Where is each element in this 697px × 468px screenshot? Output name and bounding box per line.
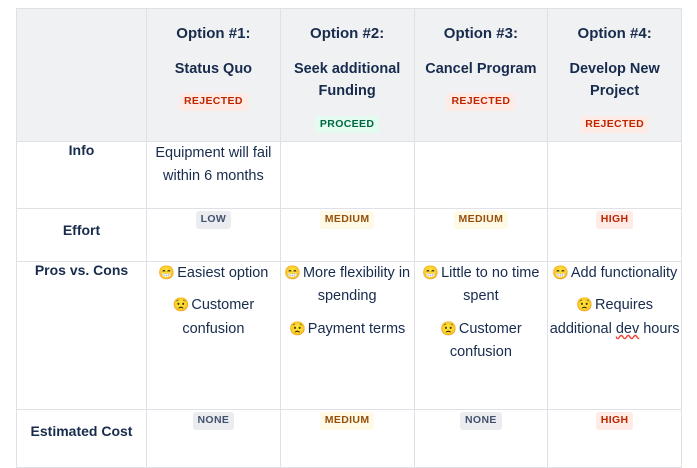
status-badge: REJECTED xyxy=(580,116,649,134)
worried-face-icon: 😟 xyxy=(576,297,593,312)
row-label-estimated-cost: Estimated Cost xyxy=(17,410,147,468)
list-item: 😟Requires additional dev hours xyxy=(548,294,681,341)
table-row-effort: Effort LOW MEDIUM MEDIUM HIGH xyxy=(17,209,682,262)
cell-effort-option-1: LOW xyxy=(147,209,281,262)
grinning-face-icon: 😁 xyxy=(158,265,175,280)
list-item: 😁More flexibility in spending xyxy=(281,262,414,309)
option-2-title: Option #2: xyxy=(291,23,404,45)
cell-cost-option-1: NONE xyxy=(147,410,281,468)
table-row-info: Info Equipment will fail within 6 months xyxy=(17,142,682,209)
option-2-status-row: PROCEED xyxy=(291,114,404,134)
effort-badge: HIGH xyxy=(596,211,634,229)
cell-pros-cons-option-1: 😁Easiest option 😟Customer confusion xyxy=(147,262,281,410)
effort-badge: MEDIUM xyxy=(320,211,375,229)
cell-cost-option-3: NONE xyxy=(414,410,548,468)
column-header-option-1: Option #1: Status Quo REJECTED xyxy=(147,9,281,142)
cell-pros-cons-option-3: 😁Little to no time spent 😟Customer confu… xyxy=(414,262,548,410)
status-badge: PROCEED xyxy=(315,116,379,134)
worried-face-icon: 😟 xyxy=(440,321,457,336)
column-header-option-4: Option #4: Develop New Project REJECTED xyxy=(548,9,682,142)
effort-badge: MEDIUM xyxy=(454,211,509,229)
list-item: 😁Easiest option xyxy=(147,262,280,285)
status-badge: REJECTED xyxy=(179,93,248,111)
list-item: 😟Customer confusion xyxy=(415,318,548,365)
cell-info-option-4 xyxy=(548,142,682,209)
row-label-effort: Effort xyxy=(17,209,147,262)
option-2-description: Seek additional Funding xyxy=(291,58,404,103)
column-header-option-3: Option #3: Cancel Program REJECTED xyxy=(414,9,548,142)
cost-badge: MEDIUM xyxy=(320,412,375,430)
cell-info-option-1: Equipment will fail within 6 months xyxy=(147,142,281,209)
grinning-face-icon: 😁 xyxy=(422,265,439,280)
pros-cons-list: 😁Easiest option 😟Customer confusion xyxy=(147,262,280,341)
grinning-face-icon: 😁 xyxy=(552,265,569,280)
option-1-description: Status Quo xyxy=(157,58,270,80)
option-4-status-row: REJECTED xyxy=(558,114,671,134)
list-item: 😁Little to no time spent xyxy=(415,262,548,309)
header-corner-cell xyxy=(17,9,147,142)
cell-info-option-3 xyxy=(414,142,548,209)
option-1-header-content: Option #1: Status Quo REJECTED xyxy=(147,9,280,111)
table-header-row: Option #1: Status Quo REJECTED Option #2… xyxy=(17,9,682,142)
option-1-title: Option #1: xyxy=(157,23,270,45)
row-label-info: Info xyxy=(17,142,147,209)
option-4-header-content: Option #4: Develop New Project REJECTED xyxy=(548,9,681,133)
option-3-status-row: REJECTED xyxy=(425,91,538,111)
list-item: 😟Customer confusion xyxy=(147,294,280,341)
option-3-description: Cancel Program xyxy=(425,58,538,80)
list-item-text: Customer confusion xyxy=(182,297,254,336)
table-row-estimated-cost: Estimated Cost NONE MEDIUM NONE HIGH xyxy=(17,410,682,468)
column-header-option-2: Option #2: Seek additional Funding PROCE… xyxy=(280,9,414,142)
list-item-text: Customer confusion xyxy=(450,321,522,360)
decision-matrix-wrapper: Option #1: Status Quo REJECTED Option #2… xyxy=(0,0,697,468)
list-item: 😟Payment terms xyxy=(281,318,414,341)
status-badge: REJECTED xyxy=(446,93,515,111)
pros-cons-list: 😁More flexibility in spending 😟Payment t… xyxy=(281,262,414,341)
cell-effort-option-3: MEDIUM xyxy=(414,209,548,262)
list-item: 😁Add functionality xyxy=(548,262,681,285)
grinning-face-icon: 😁 xyxy=(284,265,301,280)
cell-cost-option-2: MEDIUM xyxy=(280,410,414,468)
misspelled-word: dev xyxy=(616,321,639,337)
decision-matrix-table: Option #1: Status Quo REJECTED Option #2… xyxy=(16,8,682,468)
option-1-status-row: REJECTED xyxy=(157,91,270,111)
list-item-text: Payment terms xyxy=(308,321,406,337)
cost-badge: HIGH xyxy=(596,412,634,430)
cell-effort-option-2: MEDIUM xyxy=(280,209,414,262)
worried-face-icon: 😟 xyxy=(289,321,306,336)
option-3-title: Option #3: xyxy=(425,23,538,45)
list-item-text-after: hours xyxy=(639,321,679,337)
list-item-text: Add functionality xyxy=(571,265,677,281)
pros-cons-list: 😁Add functionality 😟Requires additional … xyxy=(548,262,681,341)
list-item-text: Little to no time spent xyxy=(441,265,539,304)
cell-cost-option-4: HIGH xyxy=(548,410,682,468)
cell-pros-cons-option-2: 😁More flexibility in spending 😟Payment t… xyxy=(280,262,414,410)
table-row-pros-cons: Pros vs. Cons 😁Easiest option 😟Customer … xyxy=(17,262,682,410)
cell-info-option-2 xyxy=(280,142,414,209)
option-4-description: Develop New Project xyxy=(558,58,671,103)
option-3-header-content: Option #3: Cancel Program REJECTED xyxy=(415,9,548,111)
cell-effort-option-4: HIGH xyxy=(548,209,682,262)
worried-face-icon: 😟 xyxy=(173,297,190,312)
effort-badge: LOW xyxy=(196,211,232,229)
list-item-text: More flexibility in spending xyxy=(303,265,410,304)
option-2-header-content: Option #2: Seek additional Funding PROCE… xyxy=(281,9,414,133)
cell-pros-cons-option-4: 😁Add functionality 😟Requires additional … xyxy=(548,262,682,410)
option-4-title: Option #4: xyxy=(558,23,671,45)
cost-badge: NONE xyxy=(193,412,235,430)
pros-cons-list: 😁Little to no time spent 😟Customer confu… xyxy=(415,262,548,365)
row-label-pros-cons: Pros vs. Cons xyxy=(17,262,147,410)
list-item-text: Easiest option xyxy=(177,265,268,281)
cost-badge: NONE xyxy=(460,412,502,430)
